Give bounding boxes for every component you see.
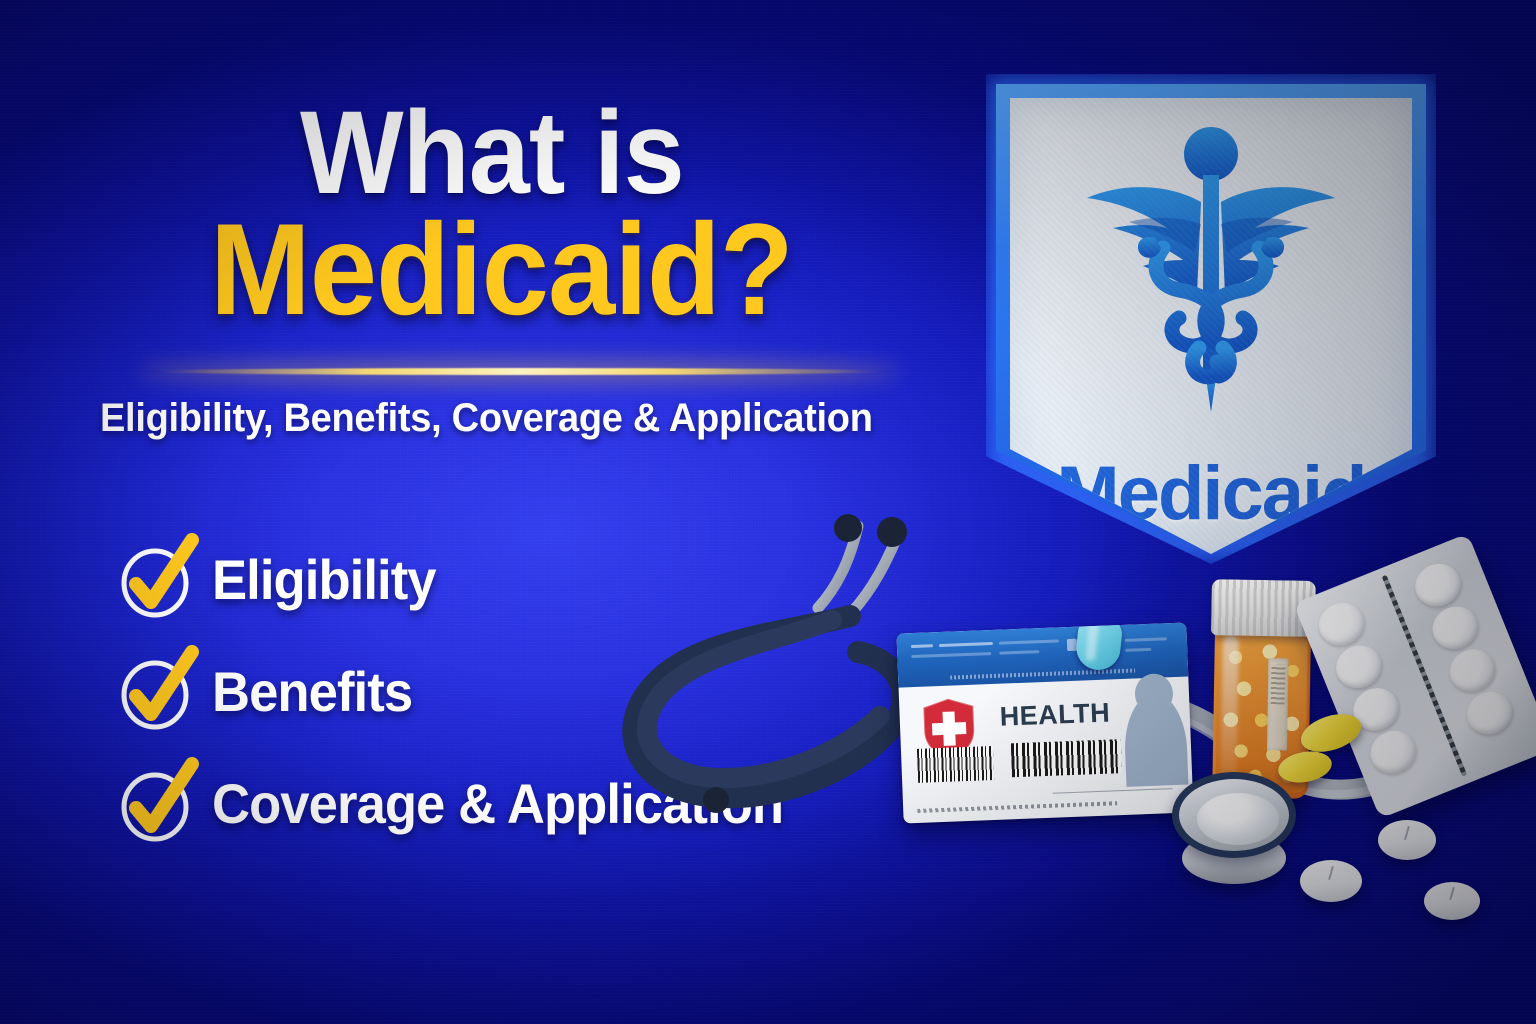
tablet [1300,860,1362,902]
check-circle-icon [118,650,196,732]
poster-canvas: What is Medicaid? Eligibility, Benefits,… [0,0,1536,1024]
list-item-label: Eligibility [212,547,436,612]
chestpiece-diaphragm [1197,793,1279,845]
medicaid-badge: Medicaid [996,84,1426,554]
card-microtext [917,801,1117,813]
tablet [1378,820,1436,860]
tablet [1424,882,1480,920]
check-circle-icon [118,762,196,844]
caduceus-icon [1051,120,1371,435]
card-title: HEALTH [999,698,1111,733]
list-item-label: Benefits [212,659,412,724]
stethoscope-chestpiece [1172,772,1296,890]
bottle-label [1267,658,1289,750]
chestpiece-head [1172,772,1296,858]
gold-divider [145,368,895,375]
headline-line-1: What is [300,96,684,212]
medical-items-photo: HEALTH [600,520,1536,1024]
health-card: HEALTH [896,623,1193,824]
subtitle: Eligibility, Benefits, Coverage & Applic… [100,396,873,441]
check-circle-icon [118,538,196,620]
bottle-highlight [1220,635,1239,785]
headline-line-2: Medicaid? [210,206,793,333]
card-signature-line [1053,788,1173,794]
barcode [917,746,994,783]
barcode [1011,739,1122,777]
